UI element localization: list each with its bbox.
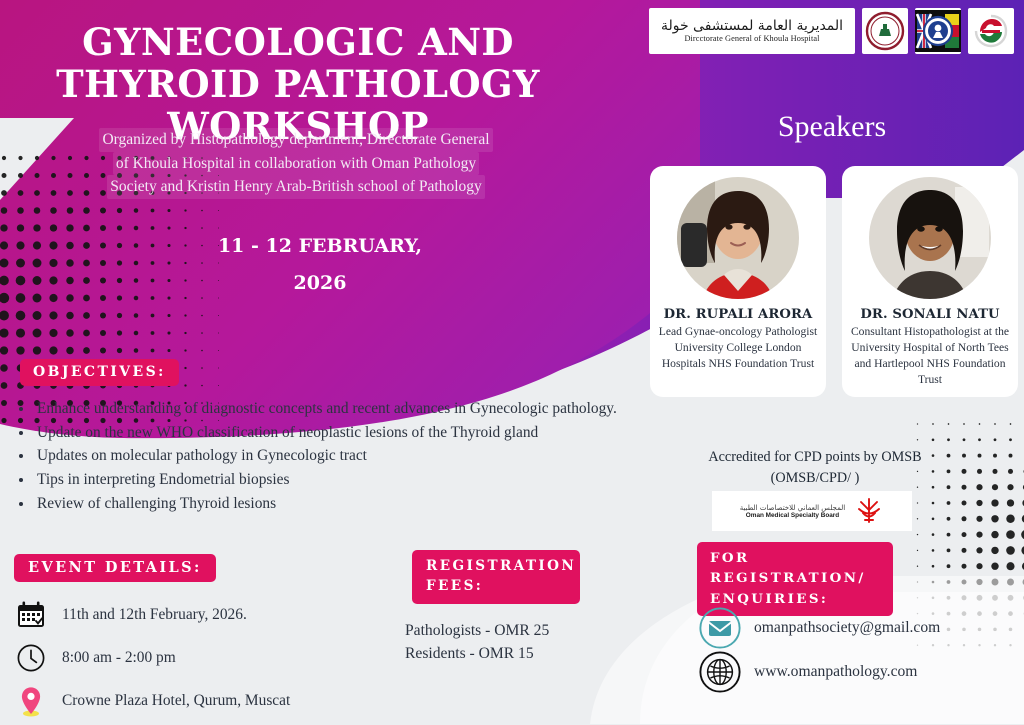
oman-pathology-society-logo — [862, 8, 908, 54]
logo-strip: المديرية العامة لمستشفى خولة Dircctorate… — [649, 8, 1014, 54]
fees-heading-line-2: FEES: — [426, 578, 483, 594]
speaker-card-rupali-arora: DR. RUPALI ARORA Lead Gynae-oncology Pat… — [650, 166, 826, 397]
objectives-list: Enhance understanding of diagnostic conc… — [16, 398, 626, 516]
event-detail-row-time: 8:00 am - 2:00 pm — [8, 639, 290, 677]
list-item: Update on the new WHO classification of … — [34, 422, 626, 445]
contact-row-email[interactable]: omanpathsociety@gmail.com — [692, 606, 940, 650]
event-detail-venue: Crowne Plaza Hotel, Qurum, Muscat — [54, 692, 290, 710]
speakers-heading: Speakers — [640, 110, 1024, 144]
event-details-rows: 11th and 12th February, 2026. 8:00 am - … — [8, 596, 290, 725]
location-pin-icon — [8, 685, 54, 717]
accreditation-line-2: (OMSB/CPD/ ) — [660, 468, 970, 489]
speaker-affiliation: Consultant Histopathologist at the Unive… — [850, 324, 1010, 388]
list-item: Updates on molecular pathology in Gyneco… — [34, 445, 626, 468]
list-item: Tips in interpreting Endometrial biopsie… — [34, 469, 626, 492]
oman-khanjar-icon — [854, 496, 884, 526]
event-date-line-1: 11 - 12 FEBRUARY, — [150, 228, 490, 265]
khoula-hospital-logo: المديرية العامة لمستشفى خولة Dircctorate… — [649, 8, 855, 54]
arab-british-school-of-pathology-logo — [915, 8, 961, 54]
khoula-logo-english: Dircctorate General of Khoula Hospital — [684, 34, 819, 43]
speaker-name: DR. RUPALI ARORA — [658, 307, 818, 322]
event-detail-time: 8:00 am - 2:00 pm — [54, 649, 176, 667]
oman-emblem-logo — [968, 8, 1014, 54]
objectives-heading: OBJECTIVES: — [20, 359, 179, 386]
globe-icon[interactable] — [692, 650, 748, 694]
event-date-line-2: 2026 — [150, 265, 490, 302]
registration-fees-rows: Pathologists - OMR 25 Residents - OMR 15 — [405, 620, 549, 665]
omsb-logo-arabic: المجلس العماني للاختصاصات الطبية — [740, 504, 845, 512]
accreditation-line-1: Accredited for CPD points by OMSB — [660, 447, 970, 468]
event-detail-row-venue: Crowne Plaza Hotel, Qurum, Muscat — [8, 682, 290, 720]
accreditation-text: Accredited for CPD points by OMSB (OMSB/… — [660, 447, 970, 489]
speakers-list: DR. RUPALI ARORA Lead Gynae-oncology Pat… — [650, 166, 1018, 397]
registration-fees-heading: REGISTRATION FEES: — [412, 550, 580, 604]
contact-heading-line-2: ENQUIRIES: — [710, 591, 828, 607]
contact-rows: omanpathsociety@gmail.com www.omanpathol… — [692, 606, 940, 694]
calendar-icon — [8, 600, 54, 630]
khoula-logo-arabic: المديرية العامة لمستشفى خولة — [661, 19, 843, 34]
contact-row-website[interactable]: www.omanpathology.com — [692, 650, 940, 694]
fees-heading-line-1: REGISTRATION — [426, 558, 576, 574]
speaker-card-sonali-natu: DR. SONALI NATU Consultant Histopatholog… — [842, 166, 1018, 397]
list-item: Review of challenging Thyroid lesions — [34, 493, 626, 516]
email-icon[interactable] — [692, 606, 748, 650]
subtitle-line-3: Society and Kristin Henry Arab-British s… — [107, 175, 485, 199]
subtitle-line-2: of Khoula Hospital in collaboration with… — [113, 152, 479, 176]
event-details-heading: EVENT DETAILS: — [14, 554, 216, 582]
fee-row-residents: Residents - OMR 15 — [405, 643, 549, 666]
contact-email[interactable]: omanpathsociety@gmail.com — [748, 619, 940, 637]
clock-icon — [8, 643, 54, 673]
event-detail-date: 11th and 12th February, 2026. — [54, 606, 247, 624]
list-item: Enhance understanding of diagnostic conc… — [34, 398, 626, 421]
contact-website[interactable]: www.omanpathology.com — [748, 663, 917, 681]
fee-row-pathologists: Pathologists - OMR 25 — [405, 620, 549, 643]
subtitle-line-1: Organized by Histopathology department, … — [99, 128, 492, 152]
event-detail-row-date: 11th and 12th February, 2026. — [8, 596, 290, 634]
speaker-affiliation: Lead Gynae-oncology Pathologist Universi… — [658, 324, 818, 372]
omsb-logo-english: Oman Medical Specialty Board — [740, 512, 845, 519]
speaker-photo-sonali-natu — [869, 177, 991, 299]
event-date: 11 - 12 FEBRUARY, 2026 — [150, 228, 490, 302]
contact-heading-line-1: FOR REGISTRATION/ — [710, 550, 866, 586]
omsb-logo: المجلس العماني للاختصاصات الطبية Oman Me… — [712, 491, 912, 531]
organizer-subtitle: Organized by Histopathology department, … — [46, 128, 546, 199]
contact-heading: FOR REGISTRATION/ ENQUIRIES: — [697, 542, 893, 616]
speaker-photo-rupali-arora — [677, 177, 799, 299]
speaker-name: DR. SONALI NATU — [850, 307, 1010, 322]
